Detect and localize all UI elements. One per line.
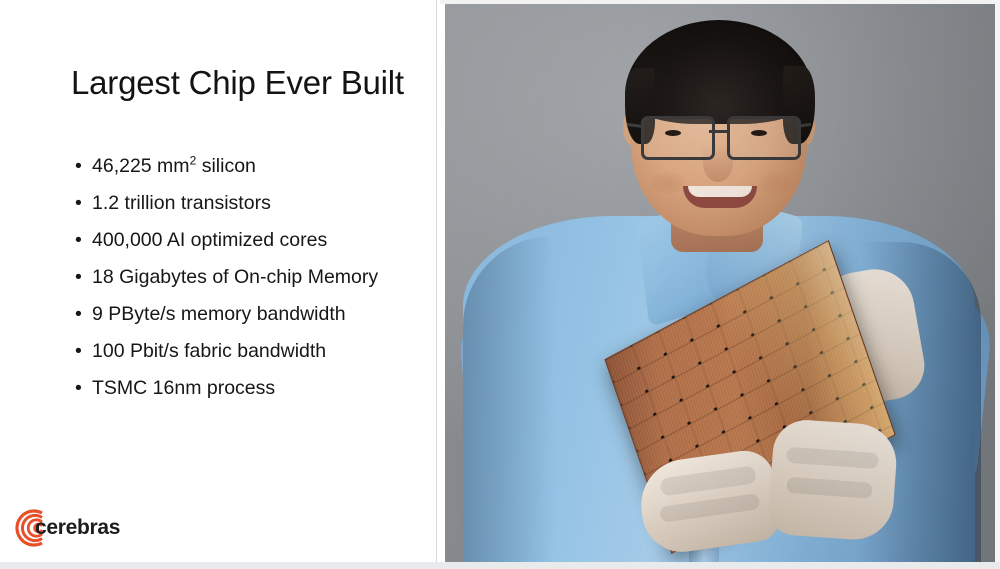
bullet-text-suffix: silicon: [196, 155, 256, 177]
cerebras-logo: cerebras: [12, 506, 142, 550]
page-title: Largest Chip Ever Built: [71, 62, 404, 104]
slide-content-panel: Largest Chip Ever Built • 46,225 mm2 sil…: [0, 0, 440, 569]
logo-wordmark: cerebras: [35, 516, 120, 540]
bullet-text: 9 PByte/s memory bandwidth: [92, 303, 346, 325]
bullet-text: 46,225 mm: [92, 155, 190, 177]
slide-bottom-border: [0, 562, 1000, 569]
list-item: • 1.2 trillion transistors: [71, 185, 431, 222]
list-item: • 18 Gigabytes of On-chip Memory: [71, 259, 431, 296]
list-item: • 100 Pbit/s fabric bandwidth: [71, 333, 431, 370]
bullet-marker-icon: •: [75, 148, 82, 185]
bullet-text: 100 Pbit/s fabric bandwidth: [92, 340, 326, 362]
bullet-text: TSMC 16nm process: [92, 377, 275, 399]
bullet-marker-icon: •: [75, 259, 82, 296]
list-item: • 9 PByte/s memory bandwidth: [71, 296, 431, 333]
list-item: • 46,225 mm2 silicon: [71, 148, 431, 185]
panel-divider: [436, 0, 437, 569]
chip-photo: [445, 4, 995, 566]
bullet-text: 18 Gigabytes of On-chip Memory: [92, 266, 378, 288]
bullet-marker-icon: •: [75, 333, 82, 370]
bullet-marker-icon: •: [75, 296, 82, 333]
bullet-marker-icon: •: [75, 185, 82, 222]
presentation-slide: Largest Chip Ever Built • 46,225 mm2 sil…: [0, 0, 1000, 569]
bullet-text: 1.2 trillion transistors: [92, 192, 271, 214]
bullet-text: 400,000 AI optimized cores: [92, 229, 327, 251]
list-item: • 400,000 AI optimized cores: [71, 222, 431, 259]
bullet-list: • 46,225 mm2 silicon • 1.2 trillion tran…: [71, 148, 431, 407]
slide-right-border: [995, 0, 1000, 569]
photo-vignette: [445, 4, 995, 566]
bullet-marker-icon: •: [75, 222, 82, 259]
bullet-marker-icon: •: [75, 370, 82, 407]
list-item: • TSMC 16nm process: [71, 370, 431, 407]
